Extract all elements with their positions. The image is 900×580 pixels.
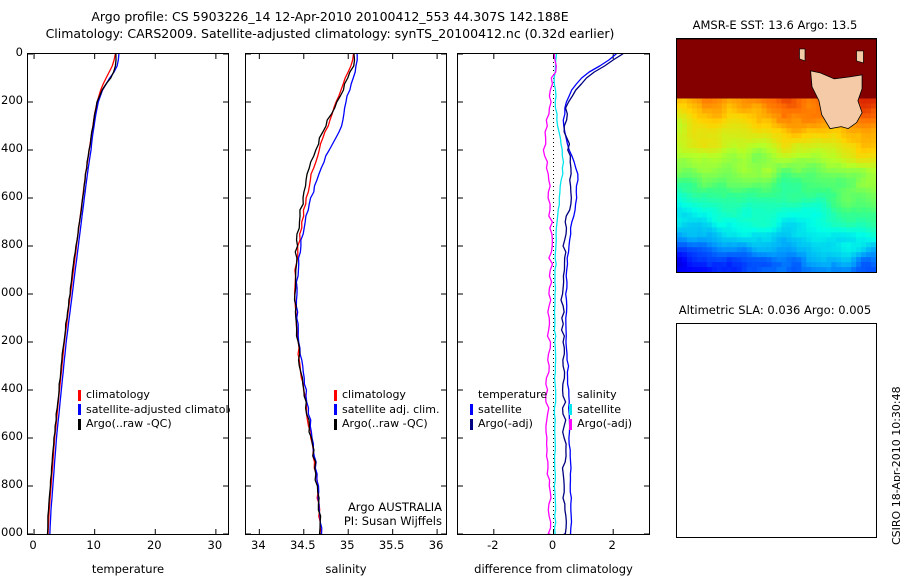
y-tick-label: 800 bbox=[0, 237, 23, 251]
salinity-profile-panel bbox=[245, 53, 447, 535]
salinity-legend-row: climatology bbox=[334, 388, 446, 403]
legend-label: satellite-adjusted climatology bbox=[86, 403, 230, 418]
legend-row: Argo(-adj) bbox=[569, 417, 632, 432]
sst-map bbox=[677, 39, 876, 272]
salinity-axis-label: salinity bbox=[245, 562, 447, 576]
legend-group-heading: temperature bbox=[470, 388, 547, 403]
legend-swatch bbox=[470, 419, 473, 430]
legend-swatch bbox=[334, 390, 337, 401]
legend-swatch bbox=[569, 419, 572, 430]
legend-label: climatology bbox=[86, 388, 150, 403]
x-tick-label: 0 bbox=[3, 538, 63, 552]
legend-label: satellite bbox=[478, 403, 522, 418]
sla-map bbox=[677, 324, 876, 537]
legend-row: satellite bbox=[470, 403, 547, 418]
legend-swatch bbox=[78, 404, 81, 415]
temperature-profile-plot bbox=[28, 54, 228, 534]
difference-legend-group: salinitysatelliteArgo(-adj) bbox=[569, 388, 632, 432]
difference-axis-label: difference from climatology bbox=[452, 562, 655, 576]
legend-label: satellite bbox=[577, 403, 621, 418]
legend-label: Argo(-adj) bbox=[478, 417, 533, 432]
sla-map-title: Altimetric SLA: 0.036 Argo: 0.005 bbox=[660, 303, 890, 317]
y-tick-label: 600 bbox=[0, 189, 23, 203]
legend-label: satellite adj. clim. bbox=[342, 403, 439, 418]
difference-profile-plot bbox=[458, 54, 649, 534]
y-tick-label: 1200 bbox=[0, 333, 23, 347]
x-tick-label: 20 bbox=[124, 538, 184, 552]
x-tick-label: 10 bbox=[64, 538, 124, 552]
x-tick-label: 0 bbox=[523, 538, 583, 552]
legend-swatch bbox=[470, 404, 473, 415]
salinity-profile-plot bbox=[246, 54, 446, 534]
y-tick-label: 2000 bbox=[0, 525, 23, 539]
csiro-credit: CSIRO 18-Apr-2010 10:30:48 bbox=[890, 386, 900, 545]
sla-map-panel bbox=[676, 323, 877, 538]
y-tick-label: 200 bbox=[0, 93, 23, 107]
legend-label: Argo(-adj) bbox=[577, 417, 632, 432]
figure-title-line1: Argo profile: CS 5903226_14 12-Apr-2010 … bbox=[91, 9, 568, 24]
temperature-profile-panel bbox=[27, 53, 229, 535]
difference-legend: temperaturesatelliteArgo(-adj)salinitysa… bbox=[470, 388, 632, 432]
y-tick-label: 400 bbox=[0, 141, 23, 155]
legend-row: satellite bbox=[569, 403, 632, 418]
difference-profile-panel bbox=[457, 53, 650, 535]
legend-label: Argo(..raw -QC) bbox=[86, 417, 172, 432]
temperature-legend-row: climatology bbox=[78, 388, 230, 403]
figure-title-line2: Climatology: CARS2009. Satellite-adjuste… bbox=[46, 26, 615, 41]
x-tick-label: 36 bbox=[406, 538, 466, 552]
legend-swatch bbox=[569, 404, 572, 415]
legend-group-heading: salinity bbox=[569, 388, 632, 403]
sst-map-title: AMSR-E SST: 13.6 Argo: 13.5 bbox=[660, 18, 890, 32]
sst-map-panel bbox=[676, 38, 877, 273]
temperature-legend: climatologysatellite-adjusted climatolog… bbox=[78, 388, 230, 432]
y-tick-label: 1800 bbox=[0, 477, 23, 491]
legend-row: Argo(-adj) bbox=[470, 417, 547, 432]
salinity-legend-row: satellite adj. clim. bbox=[334, 403, 446, 418]
y-tick-label: 1600 bbox=[0, 429, 23, 443]
temperature-axis-label: temperature bbox=[27, 562, 229, 576]
attribution-line1: Argo AUSTRALIA bbox=[348, 500, 442, 514]
temperature-legend-row: Argo(..raw -QC) bbox=[78, 417, 230, 432]
y-tick-label: 1400 bbox=[0, 381, 23, 395]
salinity-legend: climatologysatellite adj. clim.Argo(..ra… bbox=[334, 388, 446, 432]
argo-profile-figure: Argo profile: CS 5903226_14 12-Apr-2010 … bbox=[0, 0, 900, 580]
difference-legend-group: temperaturesatelliteArgo(-adj) bbox=[470, 388, 547, 432]
attribution-line2: PI: Susan Wijffels bbox=[344, 514, 442, 528]
legend-swatch bbox=[78, 390, 81, 401]
temperature-legend-row: satellite-adjusted climatology bbox=[78, 403, 230, 418]
legend-swatch bbox=[334, 404, 337, 415]
y-tick-label: 0 bbox=[0, 45, 23, 59]
y-tick-label: 1000 bbox=[0, 285, 23, 299]
attribution-text: Argo AUSTRALIA PI: Susan Wijffels bbox=[270, 500, 442, 528]
legend-swatch bbox=[78, 419, 81, 430]
x-tick-label: 2 bbox=[582, 538, 642, 552]
x-tick-label: -2 bbox=[463, 538, 523, 552]
figure-title: Argo profile: CS 5903226_14 12-Apr-2010 … bbox=[0, 8, 660, 42]
salinity-legend-row: Argo(..raw -QC) bbox=[334, 417, 446, 432]
legend-swatch bbox=[334, 419, 337, 430]
legend-label: Argo(..raw -QC) bbox=[342, 417, 428, 432]
legend-label: climatology bbox=[342, 388, 406, 403]
